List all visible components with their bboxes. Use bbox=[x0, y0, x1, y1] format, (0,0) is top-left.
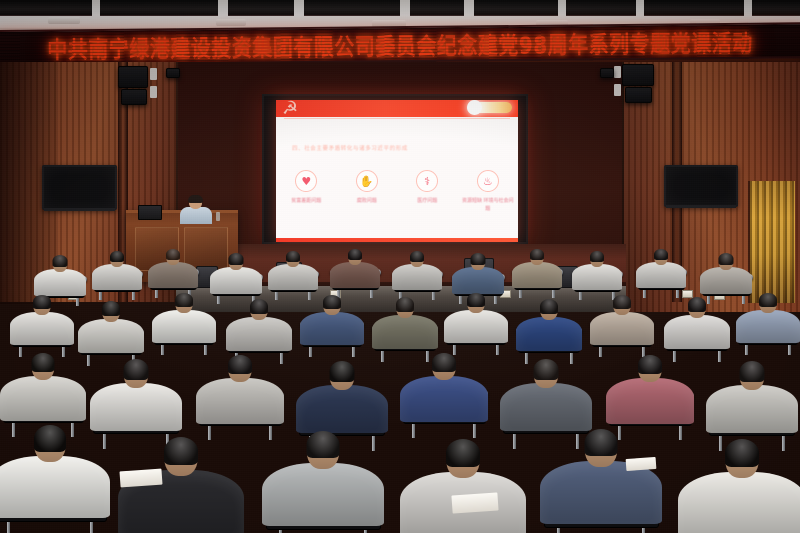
audience-member-hair bbox=[432, 353, 456, 372]
audience-member-torso bbox=[664, 315, 730, 349]
audience-member bbox=[90, 360, 182, 436]
audience-member bbox=[540, 430, 662, 530]
led-banner: 中共南宁绿港建设投资集团有限公司委员会纪念建党98周年系列专题党课活动 bbox=[0, 22, 800, 66]
presentation-slide: ☭ 四、社会主要矛盾转化与诸多习近平的形成 ♥ 贫富差距问题 ✋ 腐败问题 ⚕ … bbox=[276, 100, 518, 242]
audience-member bbox=[330, 250, 380, 291]
audience-member-hair bbox=[654, 249, 668, 260]
audience-member-hair bbox=[759, 293, 777, 307]
slide-highlight-icon bbox=[470, 102, 512, 113]
audience-member bbox=[606, 356, 694, 428]
audience-member bbox=[400, 354, 488, 426]
audience-member bbox=[392, 252, 442, 293]
audience-member bbox=[0, 426, 110, 524]
audience-member-hair bbox=[34, 425, 66, 452]
audience-member-hair bbox=[534, 359, 559, 380]
audience-member-torso bbox=[540, 461, 662, 524]
audience-member bbox=[92, 252, 142, 293]
audience-member bbox=[300, 296, 364, 348]
audience-member-torso bbox=[400, 376, 488, 422]
audience-member bbox=[10, 296, 74, 348]
audience-member-torso bbox=[736, 310, 800, 343]
audience-member-hair bbox=[396, 297, 414, 312]
audience-member-hair bbox=[110, 251, 124, 262]
audience-member bbox=[372, 298, 438, 352]
audience-member-torso bbox=[452, 267, 504, 294]
audience-member-torso bbox=[90, 383, 182, 431]
audience-member-hair bbox=[719, 253, 734, 265]
audience-member-torso bbox=[78, 319, 144, 353]
audience-member-hair bbox=[330, 361, 355, 382]
audience-member bbox=[262, 432, 384, 532]
wall-display-left bbox=[42, 165, 117, 210]
audience-member-hair bbox=[740, 361, 765, 382]
speaker-center-left bbox=[166, 68, 180, 78]
slide-item: ⚕ 医疗问题 bbox=[401, 170, 453, 206]
audience-member-hair bbox=[530, 249, 544, 260]
speaker-left-lower bbox=[121, 89, 147, 105]
audience-member-torso bbox=[516, 317, 582, 351]
led-banner-text: 中共南宁绿港建设投资集团有限公司委员会纪念建党98周年系列专题党课活动 bbox=[47, 24, 753, 65]
audience-member-torso bbox=[92, 264, 142, 290]
handout-paper bbox=[119, 469, 162, 488]
audience-member-torso bbox=[572, 264, 622, 290]
audience-member-hair bbox=[467, 293, 485, 307]
audience-member-torso bbox=[262, 463, 384, 526]
audience-member-hair bbox=[613, 295, 631, 309]
audience-member bbox=[678, 440, 800, 533]
audience-member-torso bbox=[678, 472, 800, 533]
audience-member bbox=[736, 294, 800, 346]
speaker-right-upper bbox=[622, 64, 654, 86]
audience-member-hair bbox=[33, 295, 51, 309]
projection-screen: ☭ 四、社会主要矛盾转化与诸多习近平的形成 ♥ 贫富差距问题 ✋ 腐败问题 ⚕ … bbox=[262, 94, 528, 244]
audience-member bbox=[152, 294, 216, 346]
audience-member-torso bbox=[10, 312, 74, 345]
speaker-presenter bbox=[180, 196, 212, 222]
hand-icon: ✋ bbox=[356, 170, 378, 192]
audience-member bbox=[500, 360, 592, 436]
slide-icon-row: ♥ 贫富差距问题 ✋ 腐败问题 ⚕ 医疗问题 ♨ 资源短缺 环境与社会问题 bbox=[276, 170, 518, 214]
slide-item-label: 医疗问题 bbox=[401, 198, 453, 206]
audience-member-torso bbox=[636, 262, 686, 288]
audience-member-hair bbox=[228, 355, 252, 374]
medical-icon: ⚕ bbox=[416, 170, 438, 192]
slide-item: ✋ 腐败问题 bbox=[341, 170, 393, 206]
audience-member bbox=[196, 356, 284, 428]
audience-member-hair bbox=[307, 431, 340, 458]
ceiling-light bbox=[48, 17, 80, 24]
audience-member-torso bbox=[196, 378, 284, 424]
audience-member bbox=[452, 254, 504, 297]
audience-member-torso bbox=[210, 267, 262, 294]
audience-member-hair bbox=[164, 437, 198, 465]
audience-member-torso bbox=[296, 385, 388, 433]
audience-member-torso bbox=[590, 312, 654, 345]
podium-laptop bbox=[138, 205, 162, 220]
audience-member-hair bbox=[323, 295, 341, 309]
audience-member bbox=[572, 252, 622, 293]
audience-member-hair bbox=[471, 253, 486, 265]
audience-member-torso bbox=[148, 262, 198, 288]
audience-member-torso bbox=[372, 315, 438, 349]
audience-member-hair bbox=[348, 249, 362, 260]
audience-member bbox=[226, 300, 292, 354]
audience-member-hair bbox=[638, 355, 662, 374]
audience-member-torso bbox=[512, 262, 562, 288]
audience-member bbox=[78, 302, 144, 356]
audience-member bbox=[664, 298, 730, 352]
audience-member-torso bbox=[444, 310, 508, 343]
slide-item: ♥ 贫富差距问题 bbox=[280, 170, 332, 206]
slide-footer bbox=[276, 238, 518, 242]
audience-member-hair bbox=[32, 353, 55, 372]
slide-item-label: 贫富差距问题 bbox=[280, 198, 332, 206]
audience-member bbox=[0, 354, 86, 425]
audience-member-hair bbox=[585, 429, 618, 456]
audience-member-hair bbox=[590, 251, 604, 262]
slide-title: 四、社会主要矛盾转化与诸多习近平的形成 bbox=[292, 144, 504, 152]
speaker-center-right bbox=[600, 68, 614, 78]
speaker-left-upper bbox=[118, 66, 148, 88]
audience-member-torso bbox=[300, 312, 364, 345]
audience-member-hair bbox=[250, 299, 268, 314]
handout-paper bbox=[451, 492, 498, 513]
audience-member-torso bbox=[0, 376, 86, 421]
audience-member bbox=[210, 254, 262, 297]
ceiling-light bbox=[216, 19, 246, 26]
conference-hall-photo: 中共南宁绿港建设投资集团有限公司委员会纪念建党98周年系列专题党课活动 ☭ 四、… bbox=[0, 0, 800, 533]
audience-member-hair bbox=[688, 297, 706, 312]
slide-item: ♨ 资源短缺 环境与社会问题 bbox=[462, 170, 514, 214]
audience-member-torso bbox=[500, 383, 592, 431]
audience-member bbox=[268, 252, 318, 293]
audience-member-hair bbox=[725, 439, 759, 467]
audience-member-hair bbox=[53, 255, 68, 267]
audience-member-torso bbox=[268, 264, 318, 290]
audience-member-torso bbox=[606, 378, 694, 424]
audience-member-torso bbox=[706, 385, 798, 433]
audience-member bbox=[706, 362, 798, 438]
audience-member-torso bbox=[152, 310, 216, 343]
audience-member-hair bbox=[446, 439, 480, 467]
audience-member bbox=[512, 250, 562, 291]
resource-icon: ♨ bbox=[477, 170, 499, 192]
heart-icon: ♥ bbox=[295, 170, 317, 192]
water-bottle bbox=[216, 212, 220, 221]
speaker-right-lower bbox=[625, 87, 652, 103]
audience-member-hair bbox=[410, 251, 424, 262]
audience-member-hair bbox=[102, 301, 120, 316]
handout-paper bbox=[626, 457, 657, 471]
audience-member-torso bbox=[226, 317, 292, 351]
audience-member-hair bbox=[286, 251, 300, 262]
audience-member bbox=[148, 250, 198, 291]
slide-header: ☭ bbox=[276, 100, 518, 117]
audience-member bbox=[590, 296, 654, 348]
slide-item-label: 资源短缺 环境与社会问题 bbox=[462, 198, 514, 214]
audience-member bbox=[296, 362, 388, 438]
audience-member-hair bbox=[175, 293, 193, 307]
audience-member-hair bbox=[124, 359, 149, 380]
audience-member-torso bbox=[330, 262, 380, 288]
audience-member-hair bbox=[540, 299, 558, 314]
audience-member-torso bbox=[392, 264, 442, 290]
audience-member-torso bbox=[34, 269, 86, 296]
audience-member-hair bbox=[229, 253, 244, 265]
audience-member bbox=[444, 294, 508, 346]
audience-member bbox=[636, 250, 686, 291]
audience-member bbox=[516, 300, 582, 354]
audience-member-hair bbox=[166, 249, 180, 260]
slide-item-label: 腐败问题 bbox=[341, 198, 393, 206]
audience-member bbox=[700, 254, 752, 297]
audience-member-torso bbox=[700, 267, 752, 294]
hammer-and-sickle-icon: ☭ bbox=[282, 100, 304, 117]
audience-area bbox=[0, 250, 800, 533]
audience-member bbox=[400, 440, 526, 533]
audience-member-torso bbox=[0, 456, 110, 518]
wall-display-right bbox=[664, 165, 738, 207]
audience-member bbox=[34, 256, 86, 299]
